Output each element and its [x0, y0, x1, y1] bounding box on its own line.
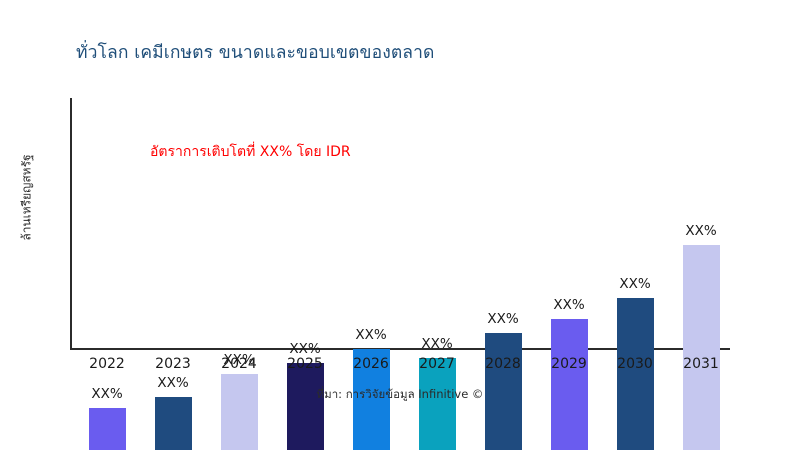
bar-value-label: XX% — [355, 327, 386, 343]
y-axis-label: ล้านเหรียญสหรัฐ — [18, 113, 37, 283]
x-tick-label: 2027 — [419, 356, 455, 372]
bar[interactable] — [551, 319, 588, 450]
growth-rate-annotation: อัตราการเติบโตที่ XX% โดย IDR — [150, 141, 351, 163]
y-axis-line — [70, 98, 72, 350]
bar-value-label: XX% — [421, 336, 452, 352]
bar-value-label: XX% — [289, 341, 320, 357]
x-tick-label: 2029 — [551, 356, 587, 372]
x-axis-tick-labels: 2022202320242025202620272028202920302031 — [0, 356, 800, 378]
bar[interactable] — [683, 245, 720, 450]
x-tick-label: 2031 — [683, 356, 719, 372]
x-tick-label: 2022 — [89, 356, 125, 372]
x-tick-label: 2028 — [485, 356, 521, 372]
chart-container: ทั่วโลก เคมีเกษตร ขนาดและขอบเขตของตลาด ล… — [0, 0, 800, 450]
source-note: ที่มา: การวิจัยข้อมูล Infinitive © — [0, 386, 800, 404]
bar-value-label: XX% — [685, 223, 716, 239]
chart-title: ทั่วโลก เคมีเกษตร ขนาดและขอบเขตของตลาด — [76, 38, 435, 66]
x-tick-label: 2024 — [221, 356, 257, 372]
bar[interactable] — [89, 408, 126, 450]
x-tick-label: 2026 — [353, 356, 389, 372]
bar[interactable] — [155, 397, 192, 450]
bar-value-label: XX% — [553, 297, 584, 313]
x-tick-label: 2023 — [155, 356, 191, 372]
bar-value-label: XX% — [619, 276, 650, 292]
x-tick-label: 2025 — [287, 356, 323, 372]
bar-value-label: XX% — [487, 311, 518, 327]
x-tick-label: 2030 — [617, 356, 653, 372]
